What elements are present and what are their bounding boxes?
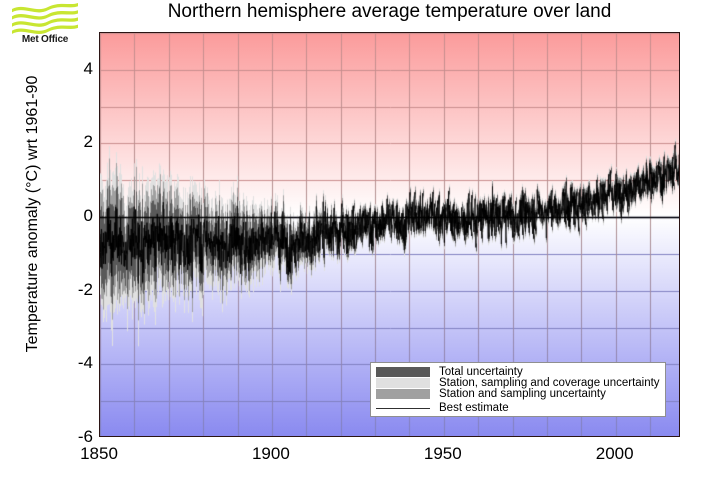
- legend-swatch: [376, 389, 430, 399]
- legend-line-glyph: [376, 408, 430, 409]
- y-axis-title: Temperature anomaly (°C) wrt 1961-90: [24, 49, 42, 379]
- legend-item-2: Station and sampling uncertainty: [376, 388, 606, 400]
- y-tick-2: 2: [5, 132, 93, 152]
- legend-line-sample: [376, 403, 430, 413]
- legend-label: Best estimate: [439, 402, 509, 414]
- legend-swatch: [376, 367, 430, 377]
- x-tick-1900: 1900: [252, 444, 290, 464]
- page-title: Northern hemisphere average temperature …: [99, 1, 680, 23]
- y-axis-tick-labels: 420-2-4-6: [0, 0, 93, 504]
- y-tick-0: 0: [5, 206, 93, 226]
- chart-legend: Total uncertaintyStation, sampling and c…: [370, 362, 666, 417]
- legend-item-3: Best estimate: [376, 402, 509, 414]
- x-tick-1850: 1850: [80, 444, 118, 464]
- legend-label: Station and sampling uncertainty: [439, 388, 606, 400]
- legend-swatch: [376, 378, 430, 388]
- y-tick-neg2: -2: [5, 280, 93, 300]
- x-tick-2000: 2000: [596, 444, 634, 464]
- y-tick-neg4: -4: [5, 353, 93, 373]
- x-tick-1950: 1950: [424, 444, 462, 464]
- y-tick-4: 4: [5, 59, 93, 79]
